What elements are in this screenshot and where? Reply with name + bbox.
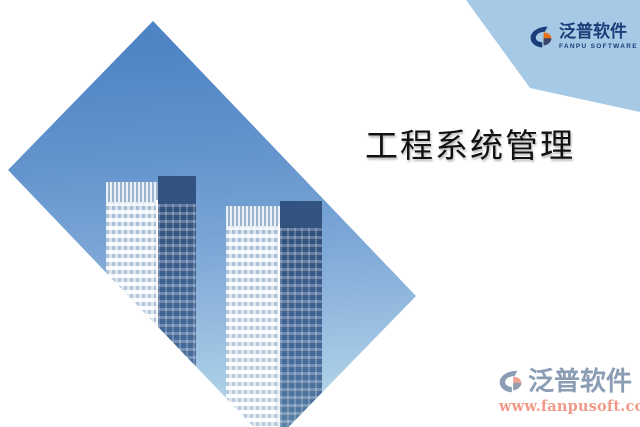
tower-right [226, 206, 322, 427]
tower-left-crown-light [106, 182, 158, 202]
page-title: 工程系统管理 [365, 119, 575, 167]
footer-watermark-brand-cn: 泛普软件 [528, 369, 632, 395]
tower-left-front-facade [106, 202, 158, 427]
tower-right-corner-edge [278, 224, 280, 427]
slide-canvas: 工程系统管理 泛普软件 FANPU SOFTWARE 泛普软件 [0, 0, 640, 427]
footer-watermark-url: www.fanpusoft.com [499, 398, 640, 415]
header-logo: 泛普软件 FANPU SOFTWARE [528, 24, 638, 51]
tower-right-crown-light [226, 206, 280, 226]
tower-left-corner-edge [156, 200, 158, 427]
tower-right-side-facade [280, 228, 322, 427]
fanpu-swoosh-watermark-icon [497, 368, 524, 395]
fanpu-swoosh-logo-icon [528, 24, 554, 50]
header-logo-brand-en: FANPU SOFTWARE [559, 44, 638, 51]
footer-watermark: 泛普软件 www.fanpusoft.com [497, 368, 640, 415]
tower-left-crown-dark [158, 176, 196, 204]
header-logo-brand-cn: 泛普软件 [559, 24, 638, 41]
tower-right-crown-dark [280, 201, 322, 228]
tower-left-side-facade [158, 204, 196, 427]
tower-left [106, 182, 196, 427]
tower-right-front-facade [226, 226, 280, 427]
